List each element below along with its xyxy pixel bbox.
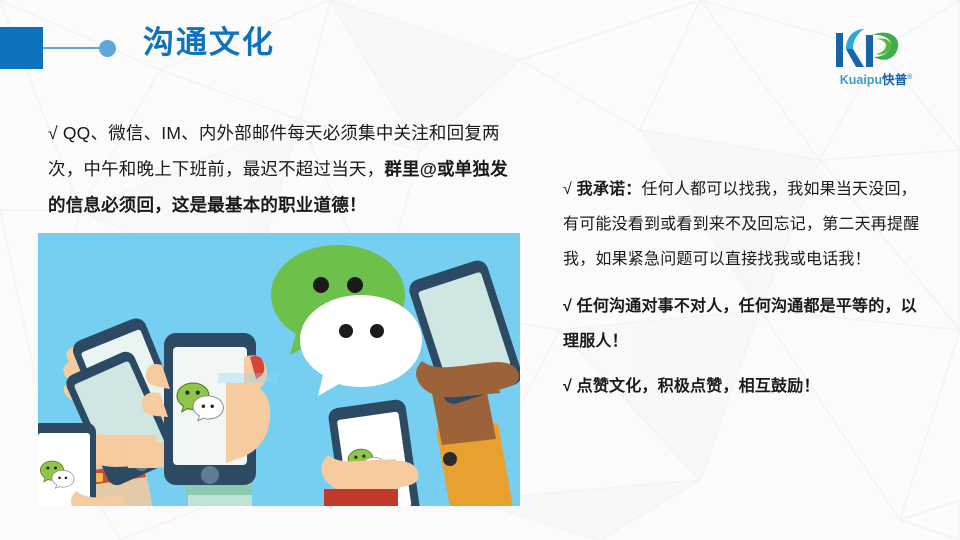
promise-bold-lead: 我承诺： — [577, 181, 642, 198]
wechat-hands-phones-illustration — [38, 233, 520, 506]
logo-chinese-text: 快普 — [882, 73, 907, 87]
header-connector-line — [43, 47, 106, 49]
praise-check-marker: √ — [563, 378, 572, 395]
right-paragraph-promise: √ 我承诺：任何人都可以找我，我如果当天没回，有可能没看到或看到来不及回忘记，第… — [563, 172, 923, 277]
company-logo: Kuaipu快普® — [822, 27, 930, 83]
equality-body-text: 任何沟通对事不对人，任何沟通都是平等的，以理服人！ — [563, 298, 917, 350]
page-title: 沟通文化 — [143, 22, 275, 64]
header-accent-square — [0, 27, 43, 69]
logo-registered-mark: ® — [907, 74, 912, 81]
left-text-block: √ QQ、微信、IM、内外部邮件每天必须集中关注和回复两次，中午和晚上下班前，最… — [48, 115, 518, 223]
illustration-canvas — [38, 233, 520, 506]
kuaipu-logo-mark — [834, 27, 906, 69]
header-bullet-dot — [99, 40, 116, 57]
right-paragraph-equality: √ 任何沟通对事不对人，任何沟通都是平等的，以理服人！ — [563, 289, 923, 359]
right-text-column: √ 我承诺：任何人都可以找我，我如果当天没回，有可能没看到或看到来不及回忘记，第… — [563, 172, 923, 416]
hand-phone-bottom-right — [321, 398, 421, 506]
praise-body-text: 点赞文化，积极点赞，相互鼓励！ — [577, 378, 820, 395]
equality-check-marker: √ — [563, 298, 572, 315]
right-paragraph-praise: √ 点赞文化，积极点赞，相互鼓励！ — [563, 369, 923, 404]
promise-check-marker: √ — [563, 181, 572, 198]
slide-root: 沟通文化 Kuaipu快普® √ QQ、微信、IM、内外部邮件每天必须集中关注和… — [0, 0, 960, 540]
left-check-marker: √ — [48, 123, 58, 143]
logo-latin-text: Kuaipu — [840, 73, 882, 87]
logo-wordmark: Kuaipu快普® — [822, 69, 930, 83]
